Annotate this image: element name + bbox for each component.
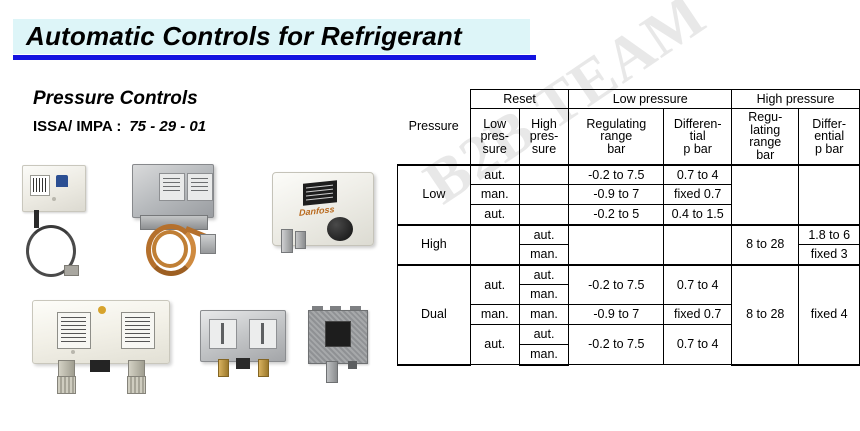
cell-low-diff: 0.4 to 1.5 bbox=[664, 205, 732, 225]
header-high-reg: Regu-latingrangebar bbox=[732, 109, 799, 165]
product-2-scale-window-left bbox=[159, 173, 185, 201]
product-5-brass-connector-right bbox=[258, 359, 269, 377]
cell-low-reg: -0.2 to 7.5 bbox=[569, 265, 664, 305]
table-row: Low aut. -0.2 to 7.5 0.7 to 4 bbox=[398, 165, 860, 185]
product-1-housing bbox=[22, 165, 86, 212]
product-4-housing bbox=[32, 300, 170, 364]
table-body: Low aut. -0.2 to 7.5 0.7 to 4 man. -0.9 … bbox=[398, 165, 860, 365]
cell-low-diff: 0.7 to 4 bbox=[664, 325, 732, 365]
product-image-dual-pressure-control-copper-coils bbox=[128, 164, 223, 276]
product-1-logo-badge bbox=[56, 175, 68, 187]
cell-reset-low: man. bbox=[470, 305, 519, 325]
cell-reset-high: man. bbox=[519, 245, 569, 265]
cell-low-reg: -0.2 to 7.5 bbox=[569, 165, 664, 185]
product-image-compact-pressure-switch bbox=[308, 310, 370, 392]
header-low-diff: Differen-tialp bar bbox=[664, 109, 732, 165]
product-image-danfoss-pressure-switch: Danfoss bbox=[272, 172, 377, 262]
product-3-pressure-port bbox=[281, 229, 293, 253]
issa-impa-line: ISSA/ IMPA :75 - 29 - 01 bbox=[33, 118, 206, 135]
cell-reset-high-a: aut. bbox=[519, 325, 569, 345]
cell-reset-high: aut. bbox=[519, 225, 569, 245]
cell-low-diff: 0.7 to 4 bbox=[664, 165, 732, 185]
product-4-screw bbox=[71, 350, 75, 354]
cell-reset-high bbox=[519, 165, 569, 185]
cell-high-diff-span: fixed 4 bbox=[799, 265, 860, 365]
product-1-scale-window bbox=[30, 175, 50, 196]
product-6-housing bbox=[308, 310, 368, 364]
product-5-terminal-block bbox=[236, 358, 250, 369]
product-5-scale-window-left bbox=[209, 319, 237, 349]
product-3-adjust-dial bbox=[327, 217, 353, 241]
cell-low-diff: 0.7 to 4 bbox=[664, 265, 732, 305]
cell-high-reg-span: 8 to 28 bbox=[732, 265, 799, 365]
cell-high-reg-span: 8 to 28 bbox=[732, 225, 799, 265]
cell-high-reg bbox=[732, 165, 799, 225]
cell-reset-low: man. bbox=[470, 185, 519, 205]
cell-reset-high bbox=[519, 185, 569, 205]
header-reset-high: Highpres-sure bbox=[519, 109, 569, 165]
issa-impa-label: ISSA/ IMPA : bbox=[33, 118, 121, 135]
table-row: Dual aut. aut. -0.2 to 7.5 0.7 to 4 8 to… bbox=[398, 265, 860, 285]
product-4-fitting-left bbox=[57, 376, 76, 394]
cell-low-reg: -0.9 to 7 bbox=[569, 185, 664, 205]
cell-low-reg: -0.2 to 7.5 bbox=[569, 325, 664, 365]
product-2-housing bbox=[132, 164, 214, 218]
product-5-housing bbox=[200, 310, 286, 362]
product-image-dual-pressure-switch-ivory bbox=[32, 300, 172, 400]
product-4-fitting-right bbox=[127, 376, 146, 394]
product-1-stem bbox=[34, 210, 39, 228]
product-3-brand-text: Danfoss bbox=[299, 204, 335, 218]
header-high-pressure: High pressure bbox=[732, 90, 860, 109]
header-reset-low: Lowpres-sure bbox=[470, 109, 519, 165]
product-image-pressure-control-with-capillary bbox=[22, 165, 92, 280]
product-1-screw bbox=[52, 197, 56, 201]
header-reset: Reset bbox=[470, 90, 569, 109]
page-title: Automatic Controls for Refrigerant bbox=[13, 19, 530, 54]
title-underline-rule bbox=[13, 55, 536, 60]
issa-impa-code: 75 - 29 - 01 bbox=[129, 118, 206, 135]
cell-low-diff: fixed 0.7 bbox=[664, 305, 732, 325]
header-pressure: Pressure bbox=[398, 90, 471, 165]
product-2-connector-nut bbox=[200, 234, 216, 254]
table-row: High aut. 8 to 28 1.8 to 6 bbox=[398, 225, 860, 245]
cell-low-reg bbox=[569, 225, 664, 265]
product-1-fitting bbox=[64, 265, 79, 276]
cell-reset-low: aut. bbox=[470, 325, 519, 365]
cell-low-reg: -0.9 to 7 bbox=[569, 305, 664, 325]
section-label-high: High bbox=[398, 225, 471, 265]
title-banner: Automatic Controls for Refrigerant bbox=[13, 19, 530, 54]
cell-low-diff: fixed 0.7 bbox=[664, 185, 732, 205]
cell-reset-high bbox=[519, 205, 569, 225]
cell-high-diff: 1.8 to 6 bbox=[799, 225, 860, 245]
product-2-scale-window-right bbox=[187, 173, 213, 201]
product-5-brass-connector-left bbox=[218, 359, 229, 377]
product-4-terminal-block bbox=[90, 360, 110, 372]
product-4-scale-window-left bbox=[57, 312, 91, 349]
product-image-dual-pressure-switch-silver bbox=[200, 310, 290, 398]
product-6-connector bbox=[326, 361, 338, 383]
product-4-reset-knob bbox=[98, 306, 106, 314]
cell-reset-high-a: aut. bbox=[519, 265, 569, 285]
product-6-foot bbox=[348, 361, 357, 369]
section-subtitle: Pressure Controls bbox=[33, 88, 198, 110]
cell-reset-high-b: man. bbox=[519, 285, 569, 305]
cell-high-diff bbox=[799, 165, 860, 225]
header-low-reg: Regulatingrangebar bbox=[569, 109, 664, 165]
cell-high-diff: fixed 3 bbox=[799, 245, 860, 265]
cell-low-reg: -0.2 to 5 bbox=[569, 205, 664, 225]
cell-reset-low: aut. bbox=[470, 265, 519, 305]
product-2-copper-coil-inner bbox=[152, 230, 188, 268]
cell-reset-high-a: man. bbox=[519, 305, 569, 325]
product-3-housing: Danfoss bbox=[272, 172, 374, 246]
header-high-diff: Differ-entialp bar bbox=[799, 109, 860, 165]
cell-reset-low: aut. bbox=[470, 165, 519, 185]
product-4-scale-window-right bbox=[121, 312, 155, 349]
pressure-controls-spec-table: Pressure Reset Low pressure High pressur… bbox=[397, 89, 860, 366]
cell-reset-high-b: man. bbox=[519, 345, 569, 365]
cell-reset-low bbox=[470, 225, 519, 265]
product-3-label-plate bbox=[303, 180, 337, 206]
section-label-dual: Dual bbox=[398, 265, 471, 365]
product-3-secondary-port bbox=[295, 231, 306, 249]
product-6-label-window bbox=[325, 321, 351, 347]
product-5-scale-window-right bbox=[249, 319, 277, 349]
header-low-pressure: Low pressure bbox=[569, 90, 732, 109]
table-head: Pressure Reset Low pressure High pressur… bbox=[398, 90, 860, 165]
cell-reset-low: aut. bbox=[470, 205, 519, 225]
section-label-low: Low bbox=[398, 165, 471, 225]
table-header-group-row: Pressure Reset Low pressure High pressur… bbox=[398, 90, 860, 109]
cell-low-diff bbox=[664, 225, 732, 265]
